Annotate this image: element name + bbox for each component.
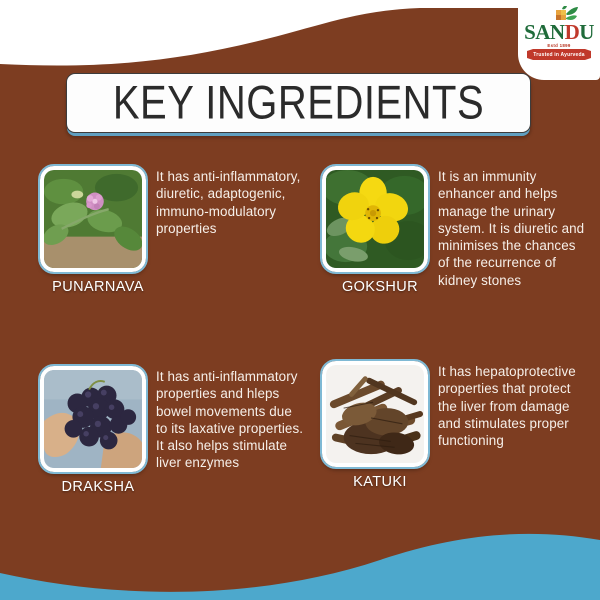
ingredient-photo-frame	[40, 166, 146, 272]
ingredient-name: KATUKI	[322, 474, 438, 490]
draksha-grapes-photo	[44, 370, 142, 468]
ingredient-name: DRAKSHA	[40, 479, 156, 495]
ingredient-card-katuki: KATUKI It has hepatoprotective propertie…	[322, 361, 587, 490]
ingredient-description: It has anti-inflammatory properties and …	[156, 366, 305, 472]
page-title: KEY INGREDIENTS	[113, 79, 484, 126]
gokshur-flower-photo	[326, 170, 424, 268]
logo-tagline-text: Trusted in Ayurveda	[533, 52, 585, 58]
logo-word-d: D	[565, 20, 580, 44]
logo-wordmark: SANDU	[521, 22, 597, 43]
ingredient-description: It has hepatoprotective properties that …	[438, 361, 587, 449]
logo-word-san: SAN	[524, 20, 565, 44]
ingredient-card-draksha: DRAKSHA It has anti-inflammatory propert…	[40, 366, 305, 495]
page-title-box: KEY INGREDIENTS	[66, 73, 531, 133]
ingredient-photo-frame	[40, 366, 146, 472]
brand-logo-panel: SANDU Estd 1899 Trusted in Ayurveda	[518, 0, 600, 80]
ingredient-name: GOKSHUR	[322, 279, 438, 295]
ingredient-name: PUNARNAVA	[40, 279, 156, 295]
logo-established-text: Estd 1899	[521, 43, 597, 48]
katuki-roots-photo	[326, 365, 424, 463]
ingredient-photo-frame	[322, 361, 428, 467]
ingredient-description: It is an immunity enhancer and helps man…	[438, 166, 587, 289]
ingredient-photo-frame	[322, 166, 428, 272]
punarnava-plant-photo	[44, 170, 142, 268]
key-ingredients-poster: SANDU Estd 1899 Trusted in Ayurveda KEY …	[0, 0, 600, 600]
logo-tagline-ribbon: Trusted in Ayurveda	[527, 49, 591, 60]
ingredient-card-gokshur: GOKSHUR It is an immunity enhancer and h…	[322, 166, 587, 295]
ingredient-card-punarnava: PUNARNAVA It has anti-inflammatory, diur…	[40, 166, 305, 295]
ingredient-description: It has anti-inflammatory, diuretic, adap…	[156, 166, 305, 237]
logo-word-u: U	[579, 20, 594, 44]
